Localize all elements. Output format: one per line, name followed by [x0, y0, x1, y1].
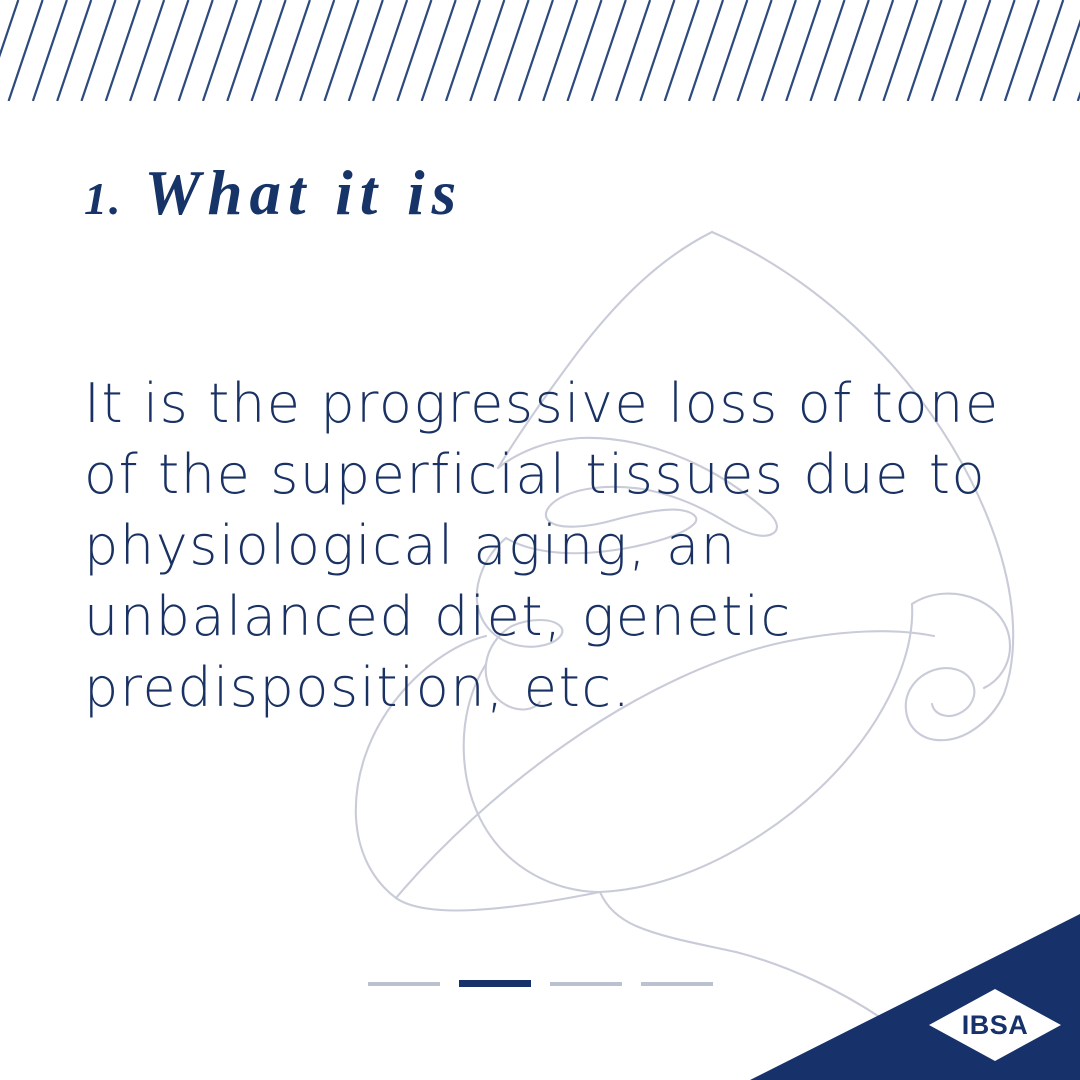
- ibsa-logo[interactable]: IBSA: [927, 987, 1063, 1063]
- pagination-dash-4[interactable]: [641, 982, 713, 986]
- page-title-text: What it is: [145, 158, 464, 228]
- pagination-dash-1[interactable]: [368, 982, 440, 986]
- pagination[interactable]: [368, 980, 713, 987]
- pagination-dash-3[interactable]: [550, 982, 622, 986]
- page-title-number: 1.: [84, 173, 145, 224]
- slide-canvas: 1.What it is It is the progressive loss …: [0, 0, 1080, 1080]
- diagonal-stripe-band: [0, 0, 1080, 101]
- page-title: 1.What it is: [84, 160, 884, 226]
- pagination-dash-2[interactable]: [459, 980, 531, 987]
- logo-wordmark: IBSA: [927, 987, 1063, 1063]
- body-paragraph: It is the progressive loss of tone of th…: [84, 368, 1014, 723]
